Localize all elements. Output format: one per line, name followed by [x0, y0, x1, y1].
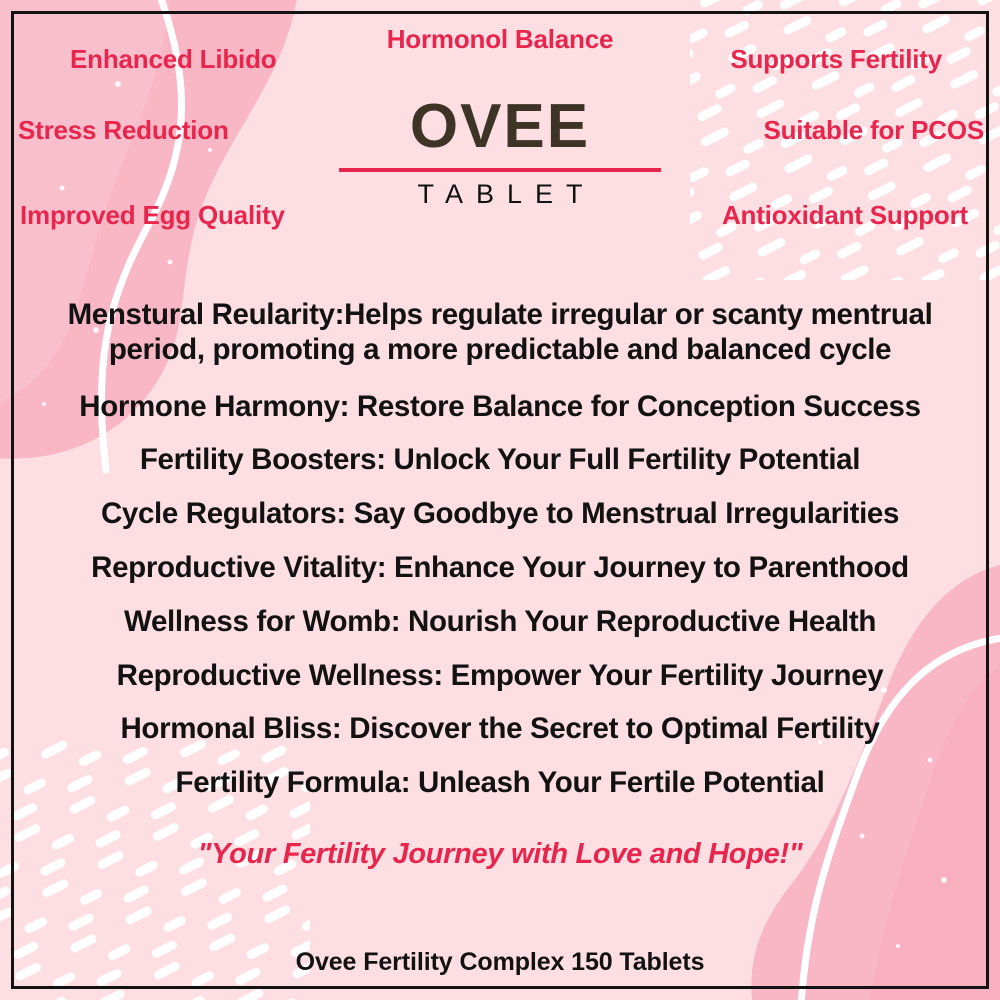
- benefit-item: Fertility Boosters: Unlock Your Full Fer…: [40, 443, 960, 478]
- brand-lockup: OVEE TABLET: [0, 96, 1000, 210]
- benefits-list: Menstural Reularity:Helps regulate irreg…: [40, 298, 960, 820]
- benefit-item: Hormone Harmony: Restore Balance for Con…: [40, 390, 960, 425]
- brand-divider-rule: [339, 168, 661, 172]
- benefit-item: Wellness for Womb: Nourish Your Reproduc…: [40, 605, 960, 640]
- product-name-line: Ovee Fertility Complex 150 Tablets: [0, 948, 1000, 977]
- poster-content: Enhanced Libido Hormonol Balance Support…: [0, 0, 1000, 1000]
- benefit-item: Hormonal Bliss: Discover the Secret to O…: [40, 712, 960, 747]
- tagline: "Your Fertility Journey with Love and Ho…: [0, 838, 1000, 871]
- brand-name: OVEE: [0, 96, 1000, 158]
- benefit-item: Menstural Reularity:Helps regulate irreg…: [40, 298, 960, 368]
- benefit-item: Fertility Formula: Unleash Your Fertile …: [40, 766, 960, 801]
- benefit-item: Cycle Regulators: Say Goodbye to Menstru…: [40, 497, 960, 532]
- benefit-item: Reproductive Vitality: Enhance Your Jour…: [40, 551, 960, 586]
- product-poster: Enhanced Libido Hormonol Balance Support…: [0, 0, 1000, 1000]
- benefit-item: Reproductive Wellness: Empower Your Fert…: [40, 659, 960, 694]
- tag-supports-fertility: Supports Fertility: [730, 44, 942, 75]
- brand-subtitle: TABLET: [0, 179, 1000, 210]
